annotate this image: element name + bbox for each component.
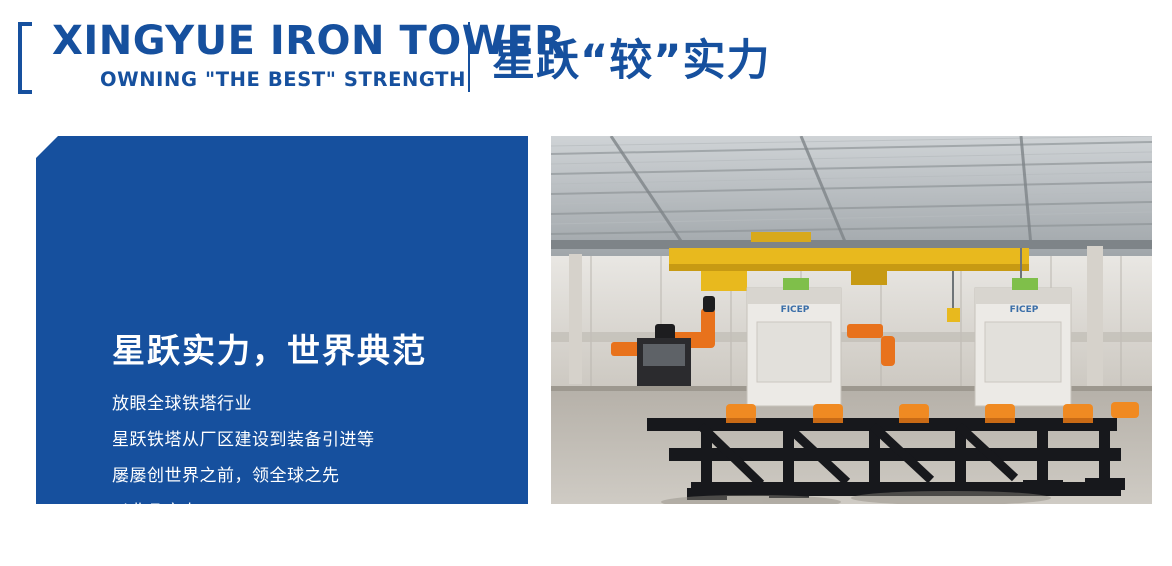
intro-line: 树立起世界铁塔行业的现代化企业典范。	[112, 530, 532, 566]
intro-panel-body: 放眼全球铁塔行业 星跃铁塔从厂区建设到装备引进等 屡屡创世界之前，领全球之先 以…	[112, 386, 532, 566]
company-logo: XINGYUE IRON TOWER OWNING "THE BEST" STR…	[18, 18, 458, 96]
intro-panel-title: 星跃实力，世界典范	[112, 324, 427, 372]
page-header: XINGYUE IRON TOWER OWNING "THE BEST" STR…	[0, 0, 1172, 118]
intro-line: 屡屡创世界之前，领全球之先	[112, 458, 532, 494]
logo-english-tagline: OWNING "THE BEST" STRENGTH	[52, 68, 466, 91]
intro-line: 以非凡实力	[112, 494, 532, 530]
svg-text:FICEP: FICEP	[781, 305, 810, 315]
logo-english-name: XINGYUE IRON TOWER	[52, 18, 565, 64]
logo-chinese-slogan: 星跃“较”实力	[492, 26, 771, 88]
svg-text:FICEP: FICEP	[1010, 305, 1039, 315]
intro-line: 放眼全球铁塔行业	[112, 386, 532, 422]
header-divider	[468, 22, 470, 92]
intro-line: 星跃铁塔从厂区建设到装备引进等	[112, 422, 532, 458]
intro-panel: 星跃实力，世界典范 放眼全球铁塔行业 星跃铁塔从厂区建设到装备引进等 屡屡创世界…	[36, 136, 528, 504]
factory-photo: FICEP FICEP	[551, 136, 1152, 504]
